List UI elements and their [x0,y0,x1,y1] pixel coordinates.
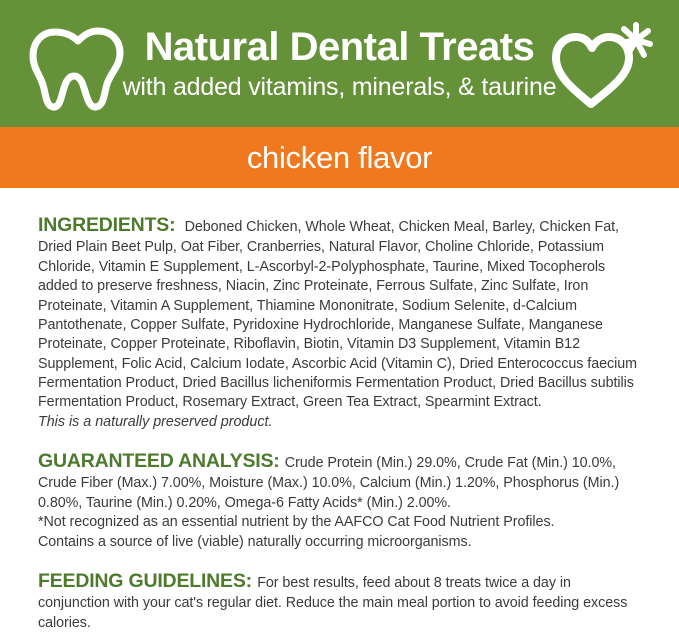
guaranteed-analysis-heading: GUARANTEED ANALYSIS: [38,450,285,472]
aafco-footnote: *Not recognized as an essential nutrient… [38,513,642,532]
guaranteed-analysis-section: GUARANTEED ANALYSIS: Crude Protein (Min.… [38,448,642,552]
page-title: Natural Dental Treats [123,27,557,68]
ingredients-heading: INGREDIENTS: [38,214,181,236]
tooth-icon [28,22,130,114]
ingredients-preserved-note: This is a naturally preserved product. [38,413,642,432]
flavor-band: chicken flavor [0,127,679,188]
microorganism-note: Contains a source of live (viable) natur… [38,533,642,552]
guaranteed-analysis-paragraph: GUARANTEED ANALYSIS: Crude Protein (Min.… [38,448,642,513]
label-content: INGREDIENTS: Deboned Chicken, Whole Whea… [38,212,642,632]
ingredients-section: INGREDIENTS: Deboned Chicken, Whole Whea… [38,212,642,432]
page-subtitle: with added vitamins, minerals, & taurine [123,72,557,102]
product-label: Natural Dental Treats with added vitamin… [0,0,679,632]
feeding-guidelines-heading: FEEDING GUIDELINES: [38,570,257,592]
header-band: Natural Dental Treats with added vitamin… [0,0,679,127]
header-text-group: Natural Dental Treats with added vitamin… [123,27,557,102]
feeding-guidelines-section: FEEDING GUIDELINES: For best results, fe… [38,568,642,632]
heart-sparkle-icon [544,12,659,117]
ingredients-text: Deboned Chicken, Whole Wheat, Chicken Me… [38,219,637,410]
ingredients-paragraph: INGREDIENTS: Deboned Chicken, Whole Whea… [38,212,642,413]
feeding-guidelines-paragraph: FEEDING GUIDELINES: For best results, fe… [38,568,642,632]
flavor-label: chicken flavor [247,140,432,176]
